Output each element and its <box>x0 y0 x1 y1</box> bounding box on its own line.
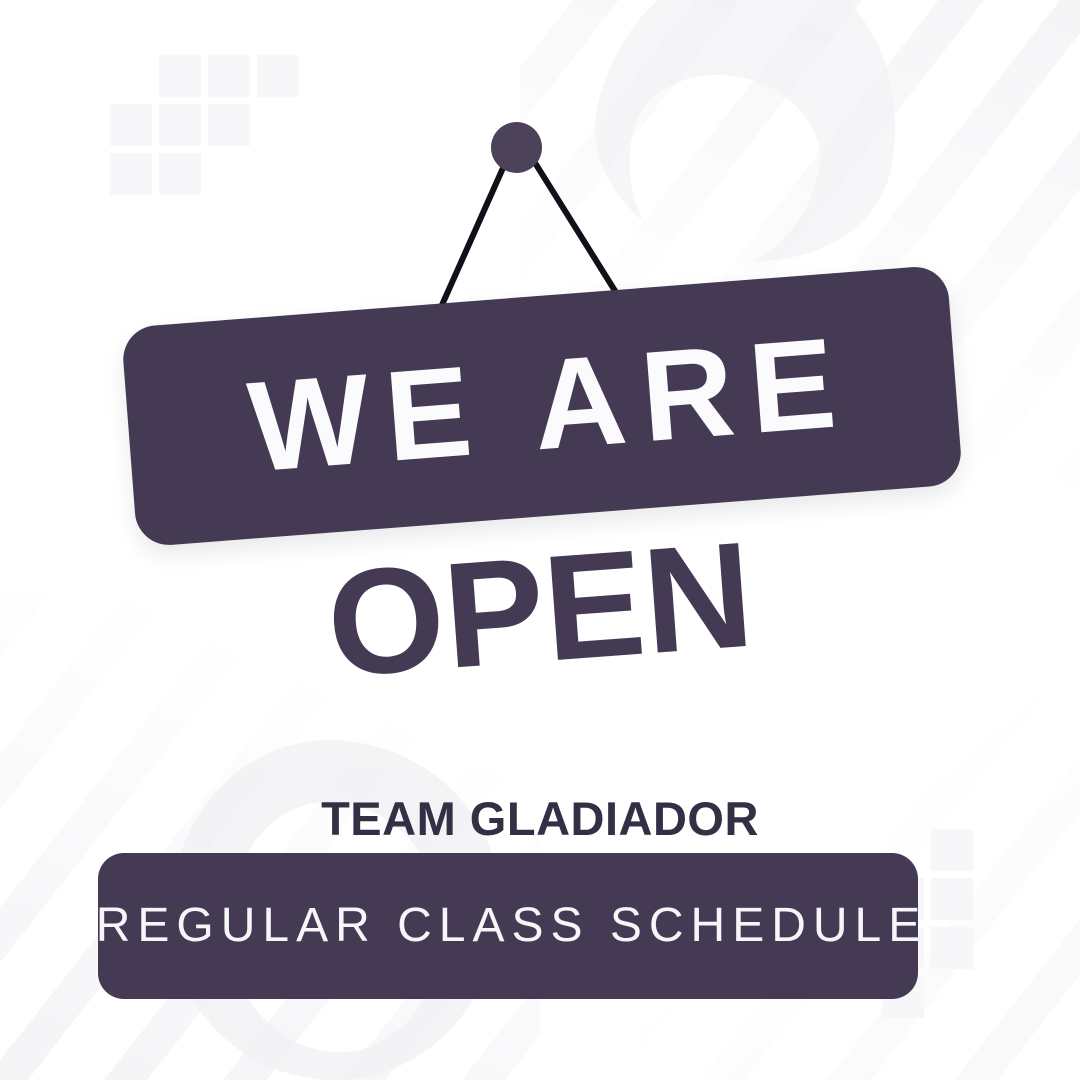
we-are-sign-board: WE ARE <box>121 265 963 548</box>
schedule-bar: REGULAR CLASS SCHEDULE <box>98 853 918 999</box>
hanging-string-right-icon <box>524 148 622 300</box>
we-are-sign-text: WE ARE <box>228 318 855 493</box>
poster-canvas: WE ARE OPEN TEAM GLADIADOR REGULAR CLASS… <box>0 0 1080 1080</box>
schedule-bar-label: REGULAR CLASS SCHEDULE <box>89 902 928 950</box>
team-name-label: TEAM GLADIADOR <box>0 795 1080 842</box>
hook-knob-icon <box>491 122 542 173</box>
